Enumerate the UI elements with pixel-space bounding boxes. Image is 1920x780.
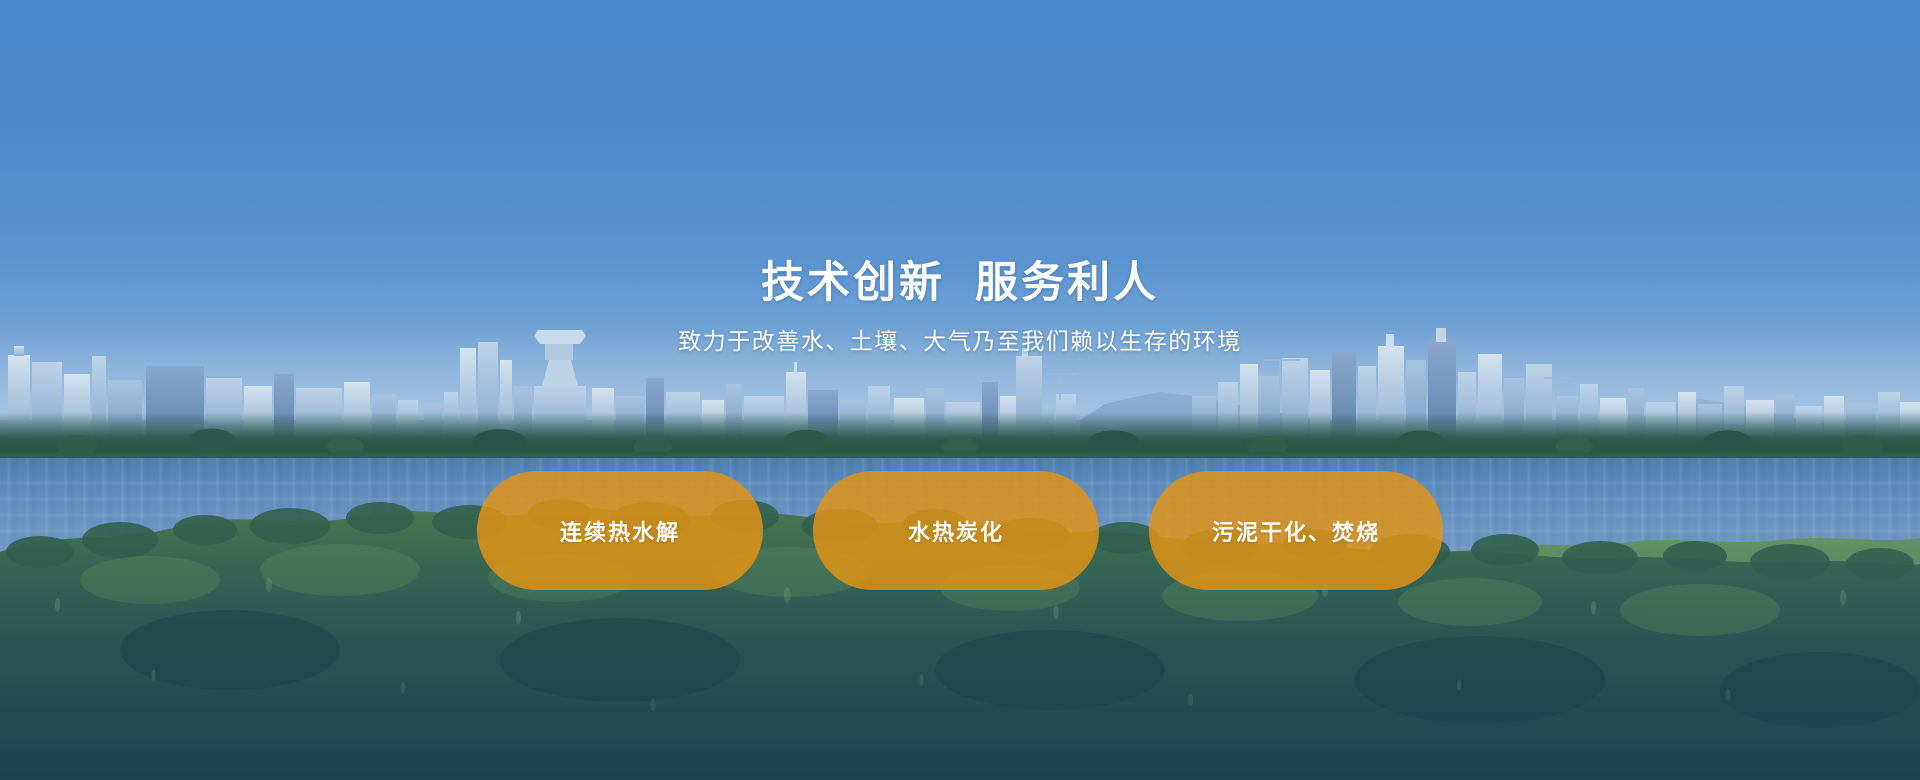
hero-banner: 技术创新 服务利人 致力于改善水、土壤、大气乃至我们赖以生存的环境 连续热水解 … xyxy=(0,0,1920,780)
service-pill-row: 连续热水解 水热炭化 污泥干化、焚烧 xyxy=(0,471,1920,590)
pill-button-hydrothermal-carbonization[interactable]: 水热炭化 xyxy=(813,471,1099,590)
hero-text-block: 技术创新 服务利人 致力于改善水、土壤、大气乃至我们赖以生存的环境 xyxy=(0,258,1920,357)
page-title: 技术创新 服务利人 xyxy=(0,258,1920,309)
pill-button-sludge-drying-incineration[interactable]: 污泥干化、焚烧 xyxy=(1149,471,1443,590)
hero-subtitle: 致力于改善水、土壤、大气乃至我们赖以生存的环境 xyxy=(0,327,1920,357)
pill-button-continuous-thermal-hydrolysis[interactable]: 连续热水解 xyxy=(477,471,763,590)
